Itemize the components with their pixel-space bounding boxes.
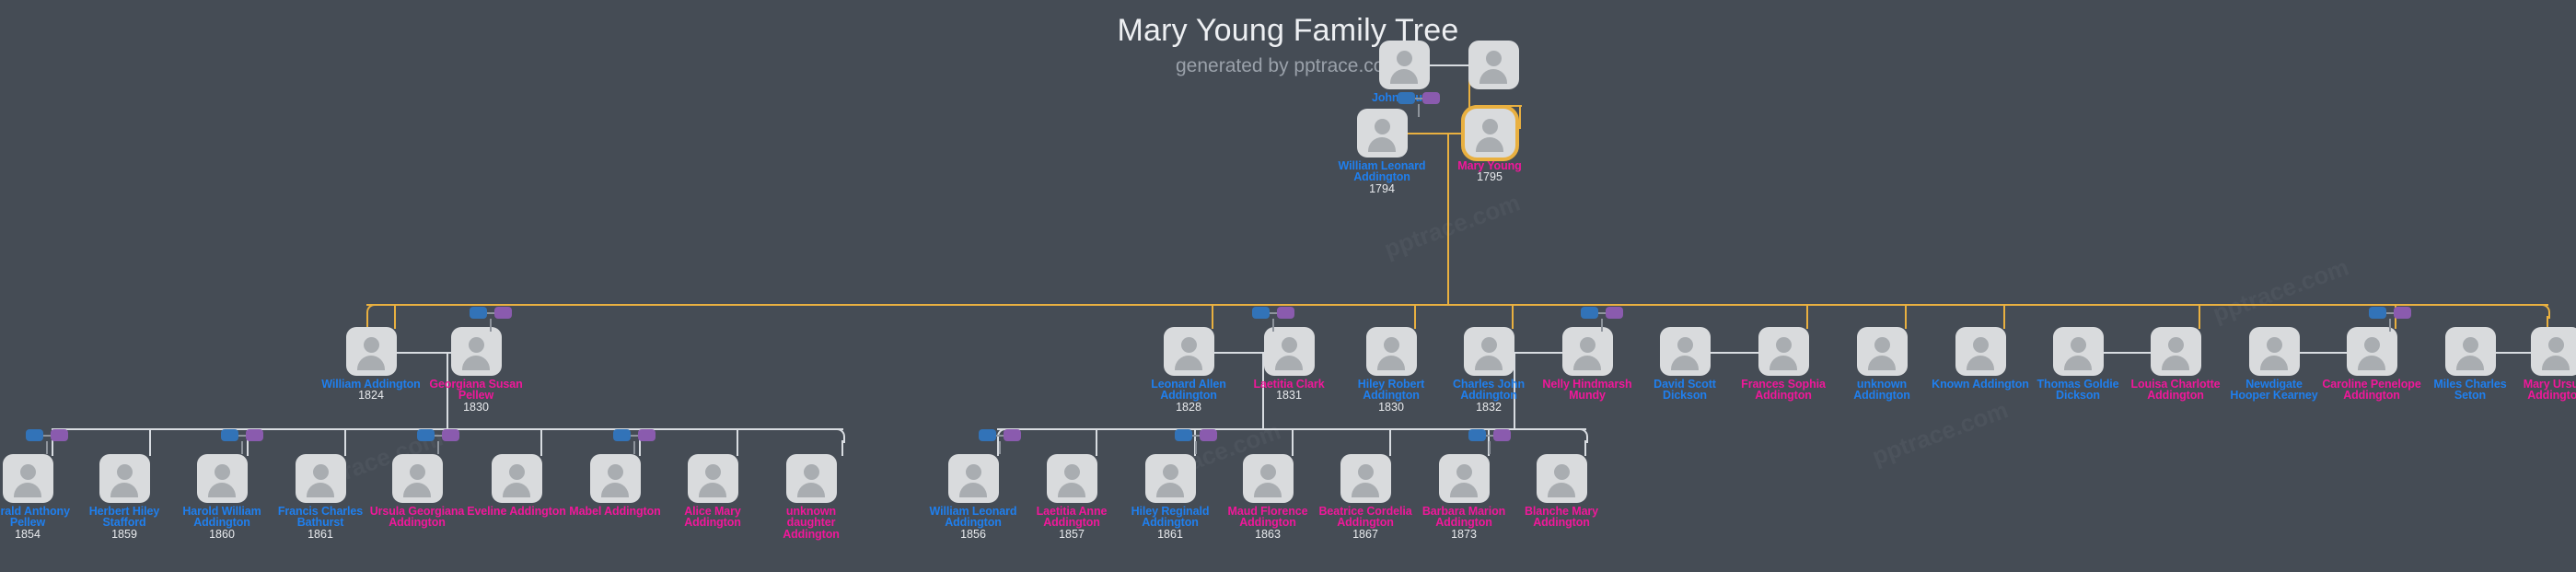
person-birth-year: 1860 [172, 529, 272, 541]
person-avatar[interactable] [2151, 327, 2201, 376]
person-card[interactable] [1444, 41, 1543, 89]
person-avatar[interactable] [1047, 454, 1097, 503]
person-name: Louisa Charlotte Addington [2126, 379, 2225, 402]
avatar-body-icon [1573, 356, 1601, 370]
person-avatar[interactable] [786, 454, 837, 503]
person-name: David Scott Dickson [1635, 379, 1735, 402]
sibling-drop [149, 428, 151, 456]
person-name: Blanche Mary Addington [1512, 506, 1611, 529]
avatar-body-icon [357, 356, 385, 370]
person-card[interactable]: Ursula Georgiana Addington [367, 454, 467, 529]
person-avatar[interactable] [1357, 109, 1408, 158]
person-avatar[interactable] [492, 454, 542, 503]
person-card[interactable]: Barbara Marion Addington1873 [1414, 454, 1514, 541]
person-avatar[interactable] [2531, 327, 2576, 376]
person-name: Maud Florence Addington [1218, 506, 1317, 529]
person-avatar[interactable] [2053, 327, 2104, 376]
avatar-head-icon [313, 464, 329, 480]
person-name: Harold William Addington [172, 506, 272, 529]
person-birth-year: 1859 [75, 529, 174, 541]
person-card[interactable]: Maud Florence Addington1863 [1218, 454, 1317, 541]
person-card[interactable]: Francis Charles Bathurst1861 [271, 454, 370, 541]
person-card[interactable]: Known Addington [1931, 327, 2030, 390]
person-avatar[interactable] [392, 454, 443, 503]
avatar-head-icon [1776, 337, 1792, 353]
avatar-body-icon [462, 356, 490, 370]
person-avatar-highlighted[interactable] [1465, 109, 1515, 158]
couple-marker[interactable] [1175, 429, 1217, 441]
pill-connector [631, 435, 638, 437]
sibling-drop [1512, 304, 1514, 329]
female-pill-icon [1606, 307, 1623, 319]
avatar-body-icon [1156, 483, 1184, 497]
pill-connector [2386, 312, 2394, 314]
avatar-body-icon [2260, 356, 2288, 370]
person-card[interactable]: William Leonard Addington1794 [1332, 109, 1432, 195]
header: Mary Young Family Tree generated by pptr… [0, 0, 2576, 76]
avatar-head-icon [1580, 337, 1595, 353]
avatar-body-icon [959, 483, 987, 497]
person-name: William Leonard Addington [923, 506, 1023, 529]
person-card[interactable]: Louisa Charlotte Addington [2126, 327, 2225, 402]
avatar-head-icon [215, 464, 230, 480]
person-card[interactable]: Georgiana Susan Pellew1830 [426, 327, 526, 414]
person-card[interactable]: Laetitia Clark1831 [1239, 327, 1339, 402]
person-card[interactable]: Herbert Hiley Stafford1859 [75, 454, 174, 541]
avatar-body-icon [503, 483, 530, 497]
pill-connector [43, 435, 51, 437]
person-avatar[interactable] [296, 454, 346, 503]
person-avatar[interactable] [1857, 327, 1908, 376]
sibling-drop [737, 428, 738, 456]
person-birth-year: 1873 [1414, 529, 1514, 541]
person-avatar[interactable] [197, 454, 248, 503]
person-avatar[interactable] [1366, 327, 1417, 376]
person-card[interactable]: Newdigate Hooper Kearney [2224, 327, 2324, 402]
avatar-body-icon [1770, 356, 1797, 370]
avatar-head-icon [509, 464, 525, 480]
avatar-body-icon [1868, 356, 1896, 370]
person-avatar[interactable] [590, 454, 641, 503]
male-pill-icon [221, 429, 238, 441]
person-avatar[interactable] [1145, 454, 1196, 503]
person-card[interactable]: Nelly Hindmarsh Mundy [1537, 327, 1637, 402]
avatar-head-icon [1554, 464, 1570, 480]
person-avatar[interactable] [2445, 327, 2496, 376]
person-card[interactable]: Hiley Robert Addington1830 [1341, 327, 1441, 414]
pill-stem [490, 319, 492, 332]
person-card[interactable]: David Scott Dickson [1635, 327, 1735, 402]
avatar-body-icon [1548, 483, 1575, 497]
avatar-head-icon [2168, 337, 2184, 353]
male-pill-icon [417, 429, 435, 441]
pill-stem [633, 441, 635, 454]
person-avatar[interactable] [2347, 327, 2397, 376]
avatar-body-icon [1368, 137, 1396, 152]
avatar-body-icon [1671, 356, 1699, 370]
avatar-head-icon [1874, 337, 1890, 353]
couple-marker[interactable] [417, 429, 459, 441]
person-card[interactable]: Alice Mary Addington [663, 454, 762, 529]
male-pill-icon [26, 429, 43, 441]
female-pill-icon [246, 429, 263, 441]
avatar-body-icon [2162, 356, 2189, 370]
avatar-head-icon [1064, 464, 1080, 480]
avatar-head-icon [1973, 337, 1989, 353]
male-pill-icon [1252, 307, 1270, 319]
avatar-body-icon [1967, 356, 1994, 370]
person-name: unknown daughter Addington [761, 506, 861, 540]
watermark: pptrace.com [1868, 395, 2012, 471]
avatar-head-icon [2364, 337, 2380, 353]
avatar-body-icon [403, 483, 431, 497]
female-pill-icon [1493, 429, 1511, 441]
person-card[interactable]: Eveline Addington [467, 454, 566, 517]
pill-connector [1486, 435, 1493, 437]
pill-connector [1192, 435, 1200, 437]
person-avatar[interactable] [1439, 454, 1490, 503]
pill-stem [241, 441, 243, 454]
avatar-body-icon [2358, 356, 2385, 370]
sibling-drop [1414, 304, 1416, 329]
avatar-head-icon [804, 464, 819, 480]
avatar-body-icon [14, 483, 41, 497]
avatar-body-icon [1058, 483, 1085, 497]
avatar-head-icon [20, 464, 36, 480]
female-pill-icon [1277, 307, 1294, 319]
avatar-body-icon [2064, 356, 2092, 370]
avatar-body-icon [2542, 356, 2570, 370]
person-name: Frances Sophia Addington [1734, 379, 1833, 402]
sibling-drop [344, 428, 346, 456]
person-birth-year: 1795 [1440, 171, 1539, 183]
person-card[interactable]: Miles Charles Seton [2420, 327, 2520, 402]
male-pill-icon [1581, 307, 1598, 319]
avatar-body-icon [601, 483, 629, 497]
person-card[interactable]: Frances Sophia Addington [1734, 327, 1833, 402]
watermark: pptrace.com [2209, 252, 2352, 328]
avatar-head-icon [1163, 464, 1178, 480]
female-pill-icon [442, 429, 459, 441]
person-card[interactable]: William Leonard Addington1856 [923, 454, 1023, 541]
sibling-bus-end-left [366, 304, 381, 319]
person-name: Nelly Hindmarsh Mundy [1537, 379, 1637, 402]
person-name: Known Addington [1931, 379, 2030, 390]
person-name: Thomas Goldie Dickson [2028, 379, 2128, 402]
person-name: Newdigate Hooper Kearney [2224, 379, 2324, 402]
pill-stem [1195, 441, 1197, 454]
person-card[interactable]: Mabel Addington [565, 454, 665, 517]
female-pill-icon [1422, 92, 1440, 104]
person-birth-year: 1861 [271, 529, 370, 541]
avatar-head-icon [1486, 51, 1502, 66]
person-name: Mary Ursula Addington [2506, 379, 2576, 402]
person-card[interactable]: Mary Ursula Addington [2506, 327, 2576, 402]
person-card[interactable]: Hiley Reginald Addington1861 [1120, 454, 1220, 541]
person-card[interactable]: William Addington1824 [321, 327, 421, 402]
avatar-body-icon [1475, 356, 1503, 370]
person-name: William Leonard Addington [1332, 160, 1432, 183]
person-name: unknown Addington [1832, 379, 1932, 402]
female-pill-icon [1004, 429, 1021, 441]
person-birth-year: 1830 [426, 402, 526, 414]
person-avatar[interactable] [1164, 327, 1214, 376]
person-card[interactable]: Charles John Addington1832 [1439, 327, 1538, 414]
avatar-body-icon [1450, 483, 1478, 497]
person-name: Barbara Marion Addington [1414, 506, 1514, 529]
male-pill-icon [1468, 429, 1486, 441]
couple-marker[interactable] [470, 307, 512, 319]
sibling-bus-gen3 [366, 304, 2548, 306]
person-avatar[interactable] [1562, 327, 1613, 376]
couple-marker[interactable] [1398, 92, 1440, 104]
person-name: Herbert Hiley Stafford [75, 506, 174, 529]
person-avatar[interactable] [1468, 41, 1519, 89]
person-name: Mabel Addington [565, 506, 665, 517]
avatar-head-icon [1260, 464, 1276, 480]
avatar-head-icon [1181, 337, 1197, 353]
sibling-drop [394, 304, 396, 329]
person-card[interactable]: Mary Young1795 [1440, 109, 1539, 183]
avatar-body-icon [208, 483, 236, 497]
couple-marker[interactable] [1581, 307, 1623, 319]
avatar-head-icon [705, 464, 721, 480]
person-avatar[interactable] [1264, 327, 1315, 376]
avatar-head-icon [608, 464, 623, 480]
avatar-body-icon [1377, 356, 1405, 370]
male-pill-icon [1175, 429, 1192, 441]
person-avatar[interactable] [1464, 327, 1514, 376]
person-name: Gerald Anthony Pellew [0, 506, 77, 529]
avatar-head-icon [2548, 337, 2564, 353]
avatar-body-icon [1390, 69, 1418, 84]
pill-connector [1270, 312, 1277, 314]
male-pill-icon [1398, 92, 1415, 104]
person-name: Caroline Penelope Addington [2322, 379, 2421, 402]
pill-connector [435, 435, 442, 437]
person-birth-year: 1854 [0, 529, 77, 541]
couple-marker[interactable] [1252, 307, 1294, 319]
pill-stem [2389, 319, 2391, 332]
sibling-drop [1292, 428, 1294, 456]
page-subtitle: generated by pptrace.com [0, 46, 2576, 76]
pill-stem [1489, 441, 1491, 454]
couple-marker[interactable] [979, 429, 1021, 441]
person-card[interactable]: Blanche Mary Addington [1512, 454, 1611, 529]
person-avatar[interactable] [1537, 454, 1587, 503]
person-birth-year: 1831 [1239, 390, 1339, 402]
avatar-head-icon [966, 464, 981, 480]
person-birth-year: 1832 [1439, 402, 1538, 414]
avatar-head-icon [2267, 337, 2282, 353]
pill-stem [1272, 319, 1274, 332]
sibling-drop [1389, 428, 1391, 456]
person-birth-year: 1830 [1341, 402, 1441, 414]
watermark: pptrace.com [1380, 188, 1524, 263]
person-name: Hiley Robert Addington [1341, 379, 1441, 402]
avatar-body-icon [1175, 356, 1202, 370]
person-name: Alice Mary Addington [663, 506, 762, 529]
female-pill-icon [638, 429, 656, 441]
person-avatar[interactable] [688, 454, 738, 503]
sibling-drop [1096, 428, 1097, 456]
sibling-drop [1905, 304, 1907, 329]
avatar-head-icon [1456, 464, 1472, 480]
avatar-head-icon [2463, 337, 2478, 353]
couple-marker[interactable] [613, 429, 656, 441]
avatar-body-icon [1476, 137, 1503, 152]
person-card[interactable]: Harold William Addington1860 [172, 454, 272, 541]
sibling-drop [1806, 304, 1808, 329]
person-name: Miles Charles Seton [2420, 379, 2520, 402]
person-birth-year: 1824 [321, 390, 421, 402]
person-avatar[interactable] [1955, 327, 2006, 376]
male-pill-icon [470, 307, 487, 319]
male-pill-icon [613, 429, 631, 441]
person-avatar[interactable] [1660, 327, 1711, 376]
person-name: Hiley Reginald Addington [1120, 506, 1220, 529]
person-avatar[interactable] [1340, 454, 1391, 503]
person-card[interactable]: Leonard Allen Addington1828 [1139, 327, 1238, 414]
avatar-head-icon [364, 337, 379, 353]
avatar-head-icon [2071, 337, 2086, 353]
pill-connector [1598, 312, 1606, 314]
couple-marker[interactable] [1468, 429, 1511, 441]
person-birth-year: 1857 [1022, 529, 1121, 541]
person-name: Francis Charles Bathurst [271, 506, 370, 529]
pill-connector [1415, 98, 1422, 99]
person-card[interactable]: unknown Addington [1832, 327, 1932, 402]
person-card[interactable]: Thomas Goldie Dickson [2028, 327, 2128, 402]
male-pill-icon [2369, 307, 2386, 319]
person-avatar[interactable] [1243, 454, 1294, 503]
avatar-head-icon [117, 464, 133, 480]
person-avatar[interactable] [346, 327, 397, 376]
family-tree-canvas: pptrace.com pptrace.com pptrace.com pptr… [0, 0, 2576, 572]
couple-marker[interactable] [26, 429, 68, 441]
sibling-drop [1212, 304, 1213, 329]
person-name: Beatrice Cordelia Addington [1316, 506, 1415, 529]
sibling-drop [540, 428, 542, 456]
person-card[interactable]: Caroline Penelope Addington [2322, 327, 2421, 402]
avatar-body-icon [1479, 69, 1507, 84]
pill-stem [437, 441, 439, 454]
pill-stem [46, 441, 48, 454]
female-pill-icon [1200, 429, 1217, 441]
couple-marker[interactable] [2369, 307, 2411, 319]
person-avatar[interactable] [1379, 41, 1430, 89]
male-pill-icon [979, 429, 996, 441]
avatar-head-icon [1481, 337, 1497, 353]
person-name: Ursula Georgiana Addington [367, 506, 467, 529]
page-title: Mary Young Family Tree [0, 0, 2576, 46]
pill-connector [487, 312, 494, 314]
person-avatar[interactable] [1758, 327, 1809, 376]
person-card[interactable]: unknown daughter Addington [761, 454, 861, 540]
avatar-head-icon [1358, 464, 1374, 480]
person-avatar[interactable] [948, 454, 999, 503]
person-avatar[interactable] [2249, 327, 2300, 376]
avatar-body-icon [1352, 483, 1379, 497]
person-card[interactable]: Beatrice Cordelia Addington1867 [1316, 454, 1415, 541]
avatar-head-icon [1482, 119, 1498, 134]
avatar-head-icon [1375, 119, 1390, 134]
avatar-body-icon [307, 483, 334, 497]
pill-stem [1601, 319, 1603, 332]
person-birth-year: 1867 [1316, 529, 1415, 541]
person-avatar[interactable] [451, 327, 502, 376]
avatar-body-icon [1275, 356, 1303, 370]
person-name: Georgiana Susan Pellew [426, 379, 526, 402]
avatar-body-icon [699, 483, 726, 497]
avatar-body-icon [110, 483, 138, 497]
person-name: Charles John Addington [1439, 379, 1538, 402]
avatar-body-icon [1254, 483, 1282, 497]
pill-connector [996, 435, 1004, 437]
person-birth-year: 1856 [923, 529, 1023, 541]
person-birth-year: 1794 [1332, 183, 1432, 195]
person-avatar[interactable] [3, 454, 53, 503]
avatar-head-icon [1384, 337, 1399, 353]
pill-stem [999, 441, 1001, 454]
avatar-body-icon [797, 483, 825, 497]
person-birth-year: 1828 [1139, 402, 1238, 414]
person-name: Eveline Addington [467, 506, 566, 517]
sibling-drop [2003, 304, 2005, 329]
avatar-head-icon [1282, 337, 1297, 353]
female-pill-icon [2394, 307, 2411, 319]
avatar-body-icon [2456, 356, 2484, 370]
female-pill-icon [51, 429, 68, 441]
avatar-head-icon [410, 464, 425, 480]
avatar-head-icon [1397, 51, 1412, 66]
pill-stem [1418, 104, 1420, 117]
avatar-head-icon [1677, 337, 1693, 353]
person-card[interactable]: Gerald Anthony Pellew1854 [0, 454, 77, 541]
sibling-drop [2199, 304, 2200, 329]
person-name: Laetitia Anne Addington [1022, 506, 1121, 529]
person-birth-year: 1861 [1120, 529, 1220, 541]
person-name: Leonard Allen Addington [1139, 379, 1238, 402]
person-card[interactable]: Laetitia Anne Addington1857 [1022, 454, 1121, 541]
person-birth-year: 1863 [1218, 529, 1317, 541]
avatar-head-icon [469, 337, 484, 353]
person-avatar[interactable] [99, 454, 150, 503]
female-pill-icon [494, 307, 512, 319]
pill-connector [238, 435, 246, 437]
couple-marker[interactable] [221, 429, 263, 441]
